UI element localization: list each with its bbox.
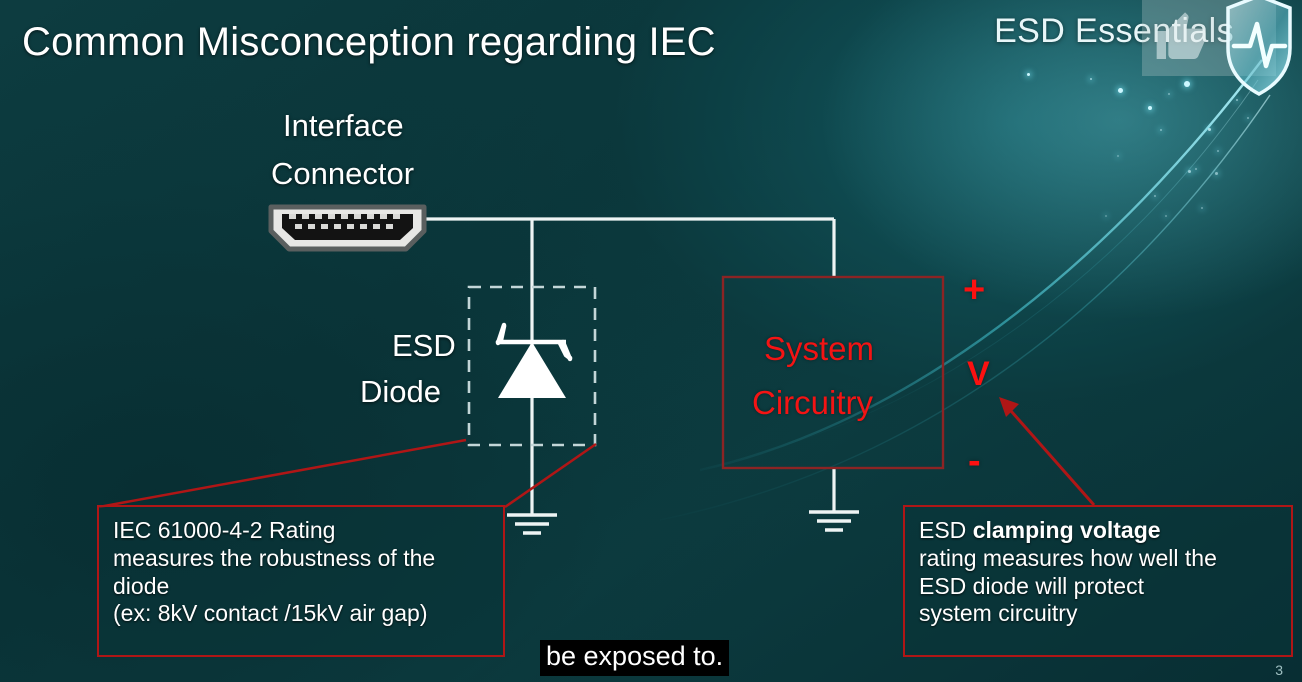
polarity-minus-label: - [968, 440, 981, 483]
ground-symbol-diode [507, 515, 557, 533]
interface-connector-label-line2: Connector [271, 156, 414, 192]
zener-diode-symbol [498, 325, 570, 398]
callout-right-line3: ESD diode will protect [919, 573, 1277, 601]
callout-right-line4: system circuitry [919, 600, 1277, 628]
callout-right-line1-prefix: ESD [919, 517, 973, 543]
polarity-plus-label: + [963, 269, 985, 312]
callout-left: IEC 61000-4-2 Rating measures the robust… [97, 505, 505, 657]
callout-left-line2: measures the robustness of the [113, 545, 489, 573]
callout-left-line3: diode [113, 573, 489, 601]
subtitle-caption: be exposed to. [540, 640, 729, 676]
callout-left-line4: (ex: 8kV contact /15kV air gap) [113, 600, 489, 628]
callout-right: ESD clamping voltage rating measures how… [903, 505, 1293, 657]
interface-connector-label-line1: Interface [283, 108, 404, 144]
callout-right-line2: rating measures how well the [919, 545, 1277, 573]
polarity-voltage-label: V [967, 355, 990, 394]
esd-diode-label-line2: Diode [360, 374, 441, 410]
hdmi-connector-icon [265, 203, 430, 253]
esd-diode-label-line1: ESD [392, 328, 456, 364]
system-circuitry-box [723, 277, 943, 468]
slide-canvas: Common Misconception regarding IEC ESD E… [0, 0, 1302, 682]
callout-left-line1: IEC 61000-4-2 Rating [113, 517, 489, 545]
system-circuitry-text-line2: Circuitry [752, 384, 873, 422]
callout-right-arrow [999, 397, 1094, 505]
callout-right-line1-bold: clamping voltage [973, 517, 1161, 543]
system-circuitry-text-line1: System [764, 330, 874, 368]
page-number: 3 [1275, 662, 1283, 678]
ground-symbol-system [809, 512, 859, 530]
callout-left-tail [99, 440, 596, 507]
callout-right-line1: ESD clamping voltage [919, 517, 1277, 545]
